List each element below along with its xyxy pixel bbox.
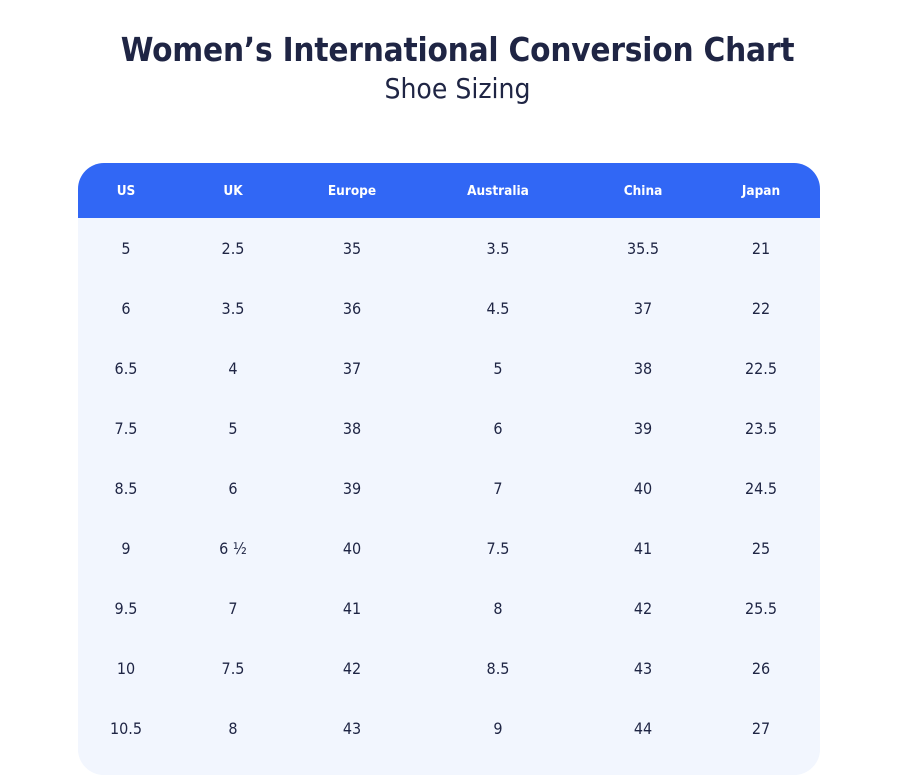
cell-europe: 41 (292, 578, 412, 638)
table-header-row: US UK Europe Australia China Japan (78, 163, 820, 218)
cell-australia: 5 (412, 338, 584, 398)
cell-china: 39 (584, 398, 702, 458)
cell-uk: 3.5 (174, 278, 292, 338)
cell-australia: 6 (412, 398, 584, 458)
column-header-australia[interactable]: Australia (412, 163, 584, 218)
cell-us: 7.5 (78, 398, 174, 458)
conversion-chart-page: Women’s International Conversion Chart S… (0, 0, 915, 777)
cell-europe: 35 (292, 218, 412, 278)
page-subtitle: Shoe Sizing (0, 71, 915, 107)
cell-europe: 42 (292, 638, 412, 698)
cell-china: 38 (584, 338, 702, 398)
cell-europe: 37 (292, 338, 412, 398)
size-conversion-table-container: US UK Europe Australia China Japan 5 2.5… (78, 163, 820, 775)
cell-china: 43 (584, 638, 702, 698)
cell-china: 40 (584, 458, 702, 518)
cell-australia: 4.5 (412, 278, 584, 338)
cell-europe: 43 (292, 698, 412, 758)
cell-uk: 7.5 (174, 638, 292, 698)
cell-uk: 5 (174, 398, 292, 458)
cell-china: 44 (584, 698, 702, 758)
cell-europe: 38 (292, 398, 412, 458)
table-row: 10.5 8 43 9 44 27 (78, 698, 820, 758)
cell-china: 41 (584, 518, 702, 578)
column-header-uk[interactable]: UK (174, 163, 292, 218)
cell-japan: 23.5 (702, 398, 820, 458)
cell-uk: 4 (174, 338, 292, 398)
cell-uk: 6 ½ (174, 518, 292, 578)
cell-australia: 9 (412, 698, 584, 758)
cell-australia: 7.5 (412, 518, 584, 578)
table-row: 5 2.5 35 3.5 35.5 21 (78, 218, 820, 278)
cell-japan: 25.5 (702, 578, 820, 638)
cell-us: 6 (78, 278, 174, 338)
cell-japan: 22.5 (702, 338, 820, 398)
cell-us: 10 (78, 638, 174, 698)
cell-us: 9.5 (78, 578, 174, 638)
cell-us: 10.5 (78, 698, 174, 758)
cell-china: 42 (584, 578, 702, 638)
table-row: 9.5 7 41 8 42 25.5 (78, 578, 820, 638)
column-header-us[interactable]: US (78, 163, 174, 218)
size-conversion-table: US UK Europe Australia China Japan 5 2.5… (78, 163, 820, 758)
table-row: 7.5 5 38 6 39 23.5 (78, 398, 820, 458)
table-body: 5 2.5 35 3.5 35.5 21 6 3.5 36 4.5 37 22 … (78, 218, 820, 758)
column-header-japan[interactable]: Japan (702, 163, 820, 218)
cell-japan: 22 (702, 278, 820, 338)
cell-japan: 24.5 (702, 458, 820, 518)
cell-uk: 8 (174, 698, 292, 758)
cell-australia: 8.5 (412, 638, 584, 698)
cell-us: 8.5 (78, 458, 174, 518)
cell-china: 37 (584, 278, 702, 338)
cell-australia: 7 (412, 458, 584, 518)
cell-japan: 25 (702, 518, 820, 578)
cell-us: 6.5 (78, 338, 174, 398)
table-row: 9 6 ½ 40 7.5 41 25 (78, 518, 820, 578)
cell-china: 35.5 (584, 218, 702, 278)
column-header-china[interactable]: China (584, 163, 702, 218)
table-row: 6.5 4 37 5 38 22.5 (78, 338, 820, 398)
cell-uk: 2.5 (174, 218, 292, 278)
cell-japan: 26 (702, 638, 820, 698)
cell-japan: 27 (702, 698, 820, 758)
table-bottom-spacer (78, 758, 820, 775)
cell-japan: 21 (702, 218, 820, 278)
table-header: US UK Europe Australia China Japan (78, 163, 820, 218)
table-row: 8.5 6 39 7 40 24.5 (78, 458, 820, 518)
column-header-europe[interactable]: Europe (292, 163, 412, 218)
table-row: 6 3.5 36 4.5 37 22 (78, 278, 820, 338)
cell-europe: 40 (292, 518, 412, 578)
cell-europe: 36 (292, 278, 412, 338)
cell-uk: 7 (174, 578, 292, 638)
cell-europe: 39 (292, 458, 412, 518)
cell-us: 9 (78, 518, 174, 578)
cell-australia: 3.5 (412, 218, 584, 278)
heading-block: Women’s International Conversion Chart S… (0, 30, 915, 107)
cell-us: 5 (78, 218, 174, 278)
cell-uk: 6 (174, 458, 292, 518)
cell-australia: 8 (412, 578, 584, 638)
table-row: 10 7.5 42 8.5 43 26 (78, 638, 820, 698)
page-title: Women’s International Conversion Chart (0, 30, 915, 70)
